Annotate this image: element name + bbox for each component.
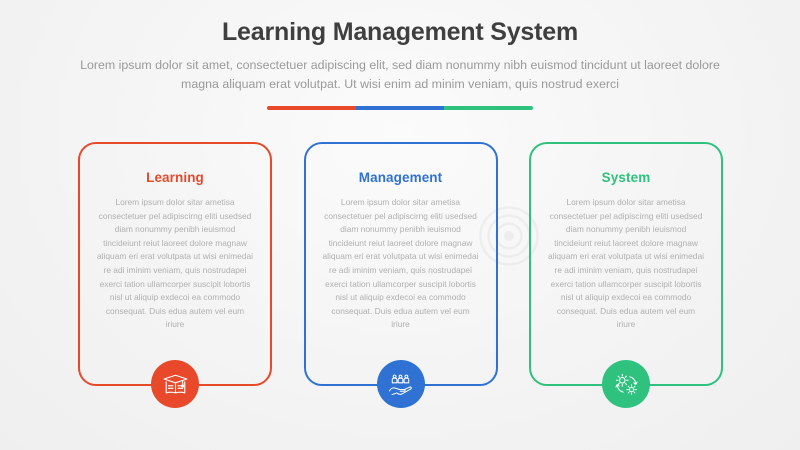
divider-segment-blue [356,106,445,110]
icon-badge-management[interactable] [377,360,425,408]
page-subtitle: Lorem ipsum dolor sit amet, consectetuer… [70,56,730,94]
icon-badge-learning[interactable] [151,360,199,408]
tricolor-divider [267,106,533,110]
card-body-management: Lorem ipsum dolor sitar ametisa consecte… [322,196,480,332]
hand-people-icon [387,371,414,398]
card-title-system: System [531,170,721,185]
card-body-learning: Lorem ipsum dolor sitar ametisa consecte… [96,196,254,332]
card-management[interactable]: Management Lorem ipsum dolor sitar ameti… [304,142,498,386]
divider-segment-red [267,106,356,110]
header: Learning Management System Lorem ipsum d… [0,0,800,110]
card-system[interactable]: System Lorem ipsum dolor sitar ametisa c… [529,142,723,386]
gears-process-icon [613,371,640,398]
card-learning[interactable]: Learning Lorem ipsum dolor sitar ametisa… [78,142,272,386]
card-row: Learning Lorem ipsum dolor sitar ametisa… [78,142,723,386]
card-title-management: Management [306,170,496,185]
icon-badge-system[interactable] [602,360,650,408]
card-title-learning: Learning [80,170,270,185]
graduation-book-icon [162,371,189,398]
page-title: Learning Management System [0,18,800,47]
card-body-system: Lorem ipsum dolor sitar ametisa consecte… [547,196,705,332]
divider-segment-green [444,106,533,110]
